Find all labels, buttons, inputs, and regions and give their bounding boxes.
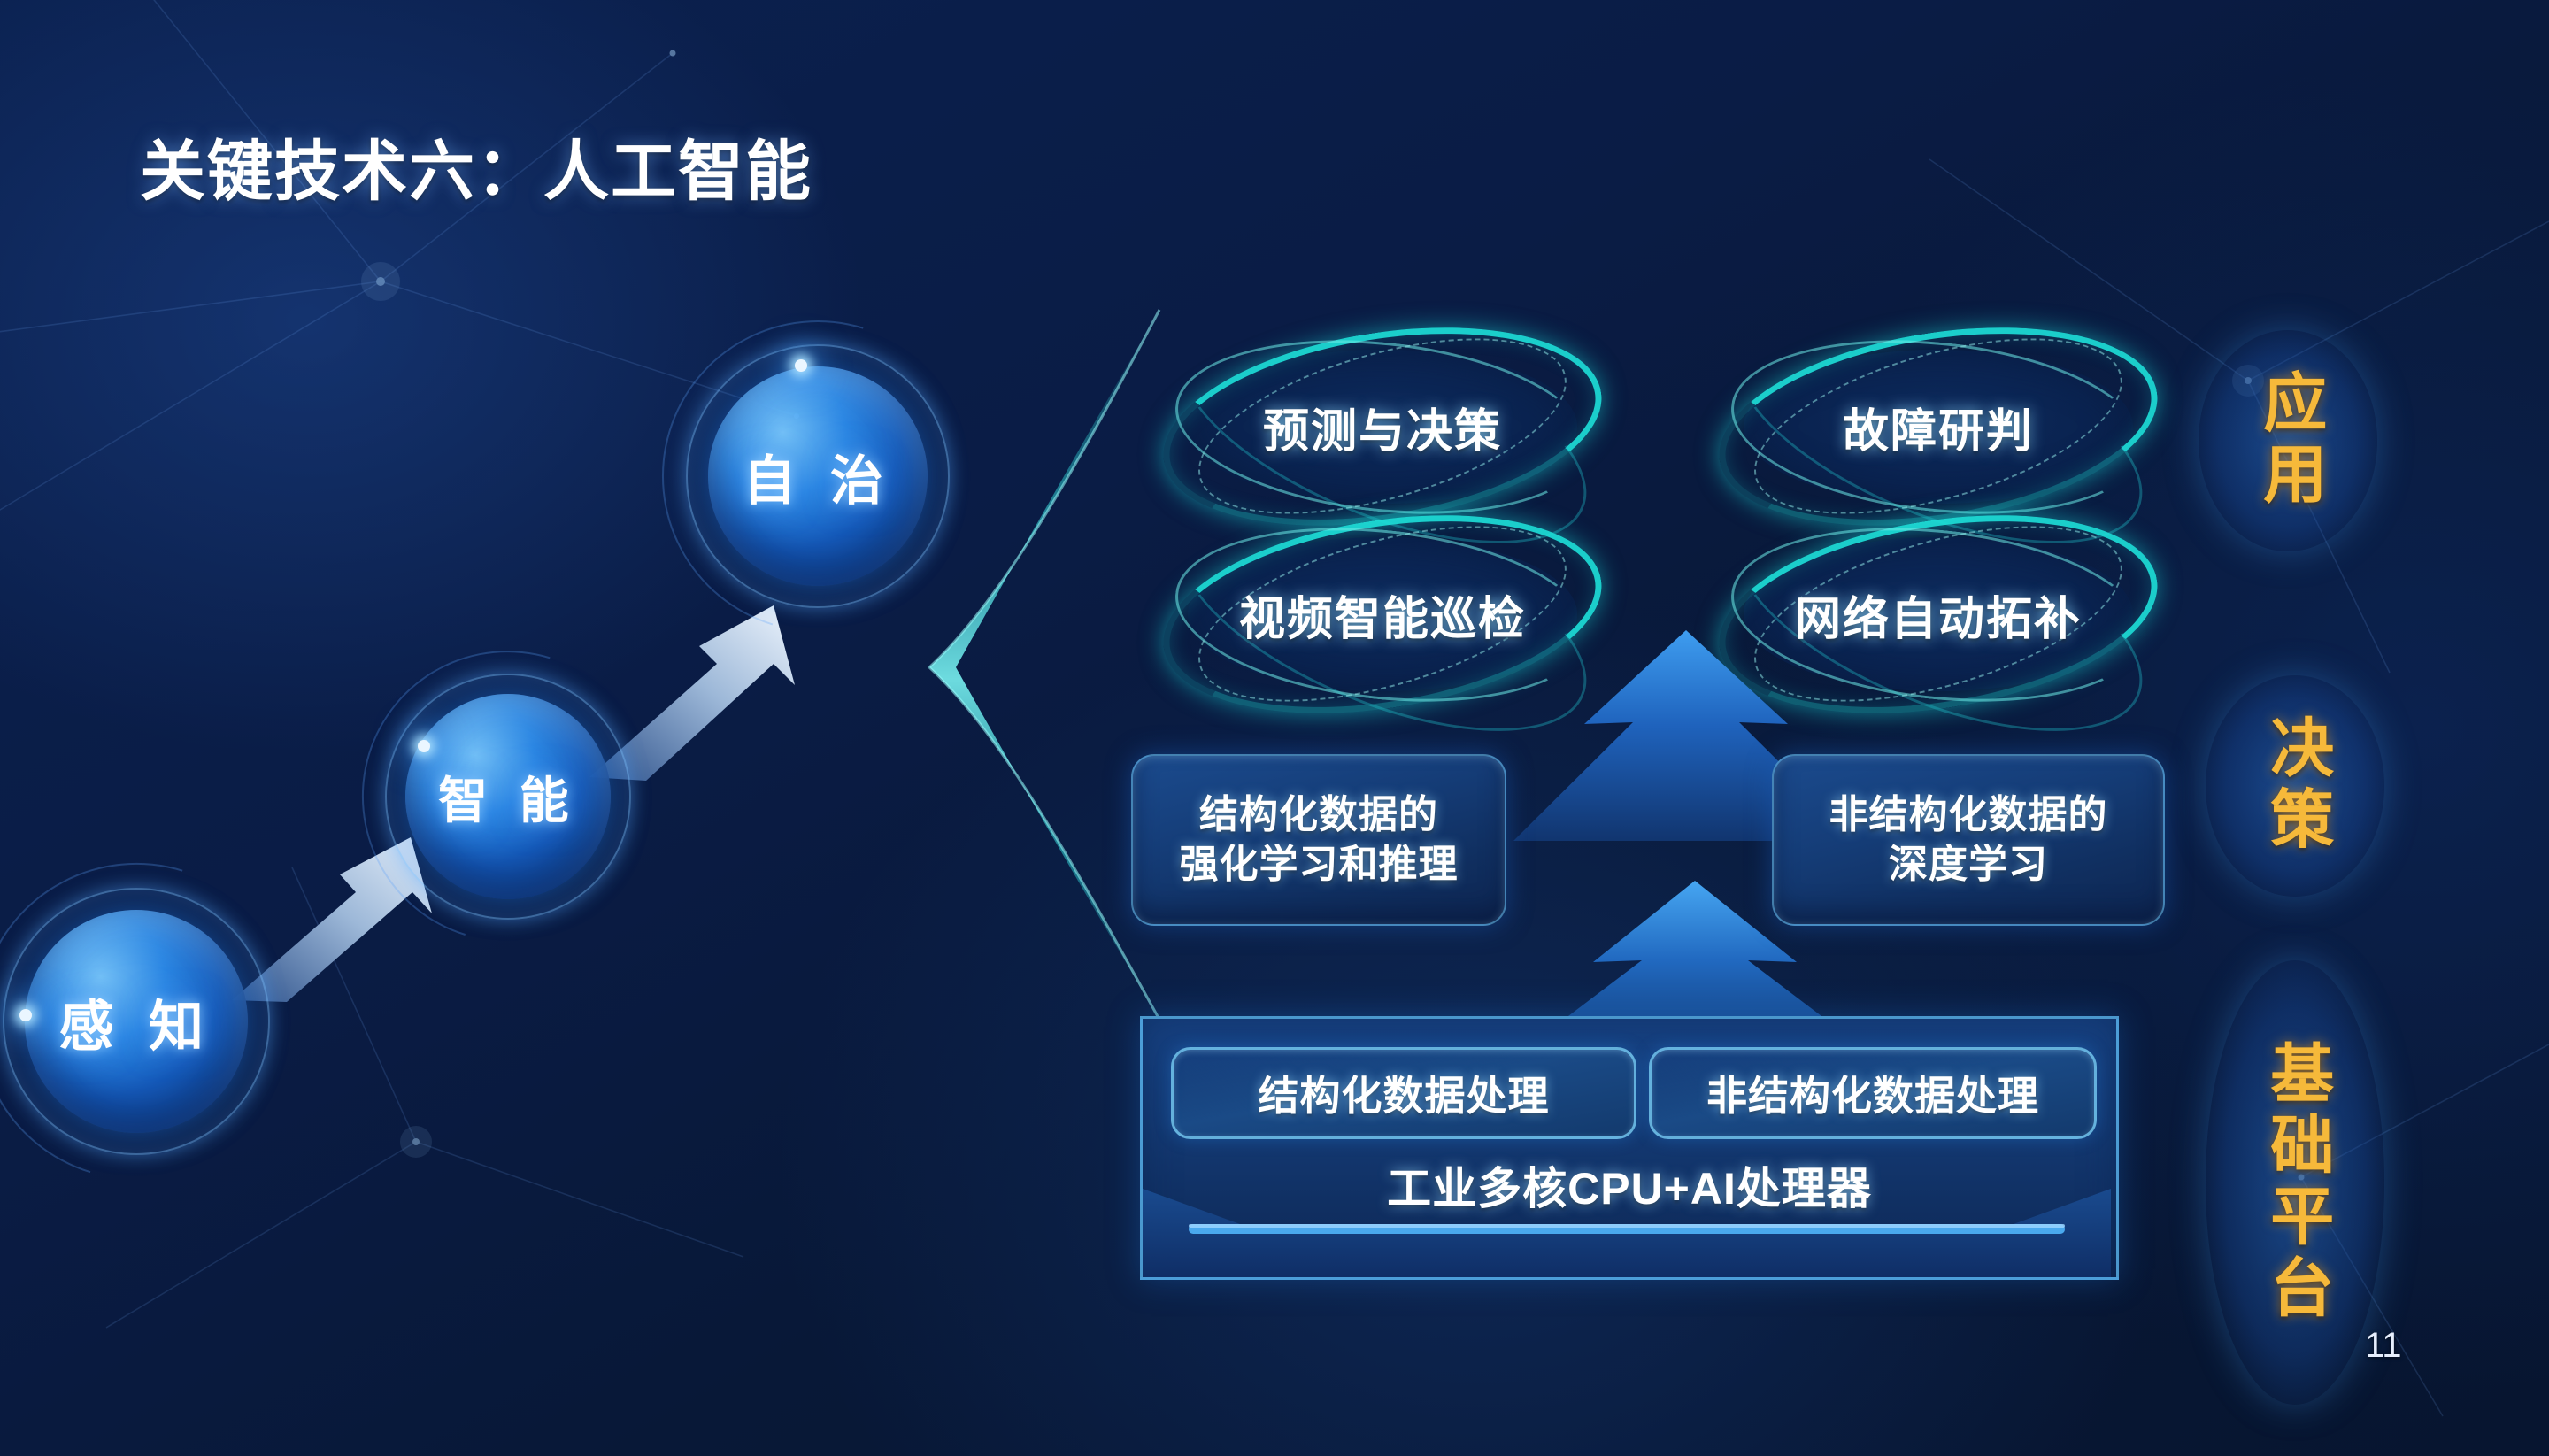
decision-box-line1: 非结构化数据的 <box>1829 790 2108 840</box>
decision-box-line2: 深度学习 <box>1889 840 2048 890</box>
platform-processor-label: 工业多核CPU+AI处理器 <box>1143 1153 2116 1217</box>
capsule-network-topology[interactable]: 网络自动拓补 <box>1717 520 2160 708</box>
sphere-spark-icon <box>19 1009 32 1021</box>
capsule-prediction-decision[interactable]: 预测与决策 <box>1161 333 1604 520</box>
sphere-label: 智 能 <box>438 761 578 833</box>
slide-title: 关键技术六：人工智能 <box>140 119 812 213</box>
decision-box-structured[interactable]: 结构化数据的 强化学习和推理 <box>1131 754 1506 926</box>
sphere-label: 自 治 <box>743 438 892 515</box>
layer-label-text: 基础平台 <box>2262 1040 2327 1326</box>
capsule-label: 预测与决策 <box>1263 394 1502 460</box>
sphere-spark-icon <box>795 359 807 372</box>
platform-box-structured-processing[interactable]: 结构化数据处理 <box>1171 1047 1636 1139</box>
sphere-zhineng[interactable]: 智 能 <box>405 694 611 899</box>
sphere-zizhi[interactable]: 自 治 <box>708 366 928 586</box>
decision-box-line1: 结构化数据的 <box>1199 790 1438 840</box>
layer-label-application: 应用 <box>2230 354 2345 528</box>
capsule-video-inspection[interactable]: 视频智能巡检 <box>1161 520 1604 708</box>
sphere-label: 感 知 <box>59 982 214 1061</box>
slide-canvas: 关键技术六：人工智能 感 知 智 能 自 治 <box>0 0 2549 1456</box>
decision-box-line2: 强化学习和推理 <box>1180 840 1459 890</box>
base-platform-panel: 结构化数据处理 非结构化数据处理 工业多核CPU+AI处理器 <box>1140 1016 2119 1280</box>
page-number: 11 <box>2365 1326 2402 1366</box>
sphere-spark-icon <box>418 740 430 752</box>
platform-box-unstructured-processing[interactable]: 非结构化数据处理 <box>1649 1047 2097 1139</box>
capsule-label: 故障研判 <box>1843 394 2034 460</box>
layer-label-text: 应用 <box>2255 369 2320 512</box>
capsule-label: 视频智能巡检 <box>1239 582 1526 648</box>
platform-box-label: 非结构化数据处理 <box>1706 1064 2039 1122</box>
capsule-label: 网络自动拓补 <box>1795 582 2082 648</box>
capsule-fault-diagnosis[interactable]: 故障研判 <box>1717 333 2160 520</box>
layer-label-base-platform: 基础平台 <box>2237 1009 2353 1356</box>
sphere-ganzhi[interactable]: 感 知 <box>25 910 248 1133</box>
layer-label-decision: 决策 <box>2237 699 2353 873</box>
platform-box-label: 结构化数据处理 <box>1259 1064 1550 1122</box>
layer-label-text: 决策 <box>2262 714 2327 857</box>
decision-box-unstructured[interactable]: 非结构化数据的 深度学习 <box>1772 754 2165 926</box>
